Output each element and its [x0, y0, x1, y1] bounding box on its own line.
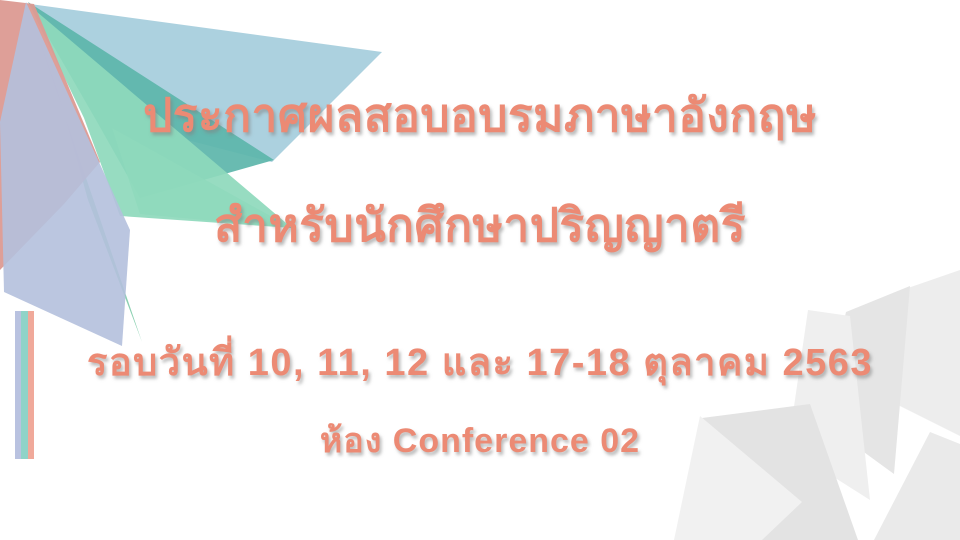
slide-text-stack: ประกาศผลสอบอบรมภาษาอังกฤษ สำหรับนักศึกษา… — [0, 0, 960, 540]
presentation-slide: ประกาศผลสอบอบรมภาษาอังกฤษ สำหรับนักศึกษา… — [0, 0, 960, 540]
title-line-2: สำหรับนักศึกษาปริญญาตรี — [0, 198, 960, 252]
title-line-1: ประกาศผลสอบอบรมภาษาอังกฤษ — [0, 88, 960, 142]
subtitle-room: ห้อง Conference 02 — [0, 420, 960, 462]
subtitle-dates: รอบวันที่ 10, 11, 12 และ 17-18 ตุลาคม 25… — [0, 340, 960, 386]
